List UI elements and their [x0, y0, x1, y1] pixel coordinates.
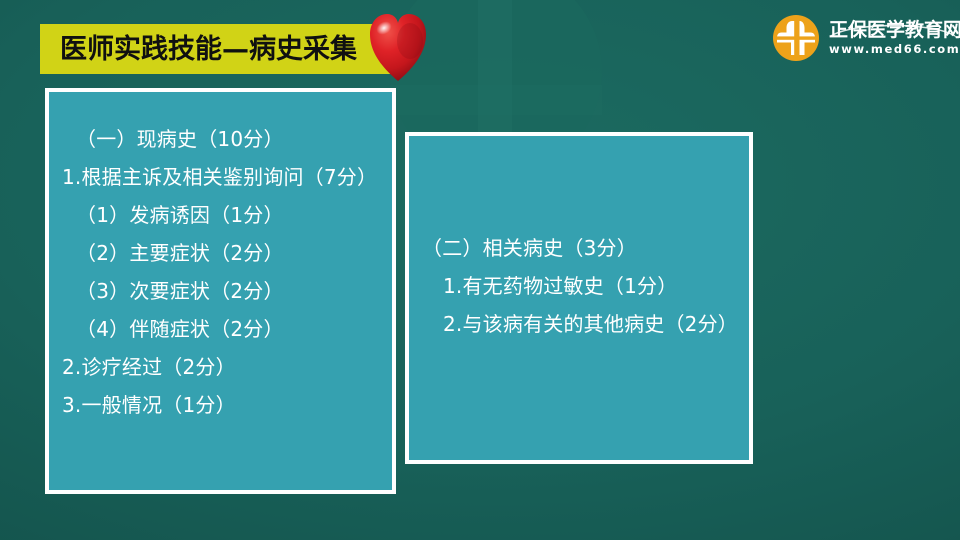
- content-box-right-lines: （二）相关病史（3分） 1.有无药物过敏史（1分） 2.与该病有关的其他病史（2…: [409, 229, 749, 343]
- red-heart-icon: [368, 11, 428, 83]
- site-name: 正保医学教育网: [829, 19, 960, 41]
- med66-cross-circle-logo-icon: [772, 14, 820, 62]
- list-item: （二）相关病史（3分）: [419, 229, 739, 267]
- list-item: 3.一般情况（1分）: [59, 386, 382, 424]
- site-logo-text: 正保医学教育网 www.med66.com: [829, 19, 960, 57]
- site-url: www.med66.com: [829, 42, 960, 57]
- content-box-left: （一）现病史（10分） 1.根据主诉及相关鉴别询问（7分） （1）发病诱因（1分…: [45, 88, 396, 494]
- list-item: （3）次要症状（2分）: [59, 272, 382, 310]
- site-logo: 正保医学教育网 www.med66.com: [772, 12, 952, 64]
- title-banner: 医师实践技能—病史采集: [40, 24, 396, 74]
- content-box-right: （二）相关病史（3分） 1.有无药物过敏史（1分） 2.与该病有关的其他病史（2…: [405, 132, 753, 464]
- page-title: 医师实践技能—病史采集: [40, 36, 357, 63]
- list-item: （2）主要症状（2分）: [59, 234, 382, 272]
- content-box-left-lines: （一）现病史（10分） 1.根据主诉及相关鉴别询问（7分） （1）发病诱因（1分…: [49, 120, 392, 424]
- list-item: （1）发病诱因（1分）: [59, 196, 382, 234]
- list-item: 2.诊疗经过（2分）: [59, 348, 382, 386]
- slide-canvas: 医师实践技能—病史采集 （一）现病史（10分: [0, 0, 960, 540]
- list-item: （4）伴随症状（2分）: [59, 310, 382, 348]
- list-item: 1.有无药物过敏史（1分）: [419, 267, 739, 305]
- watermark-horizontal-bar: [390, 85, 602, 115]
- list-item: 1.根据主诉及相关鉴别询问（7分）: [59, 158, 382, 196]
- list-item: 2.与该病有关的其他病史（2分）: [419, 305, 739, 343]
- list-item: （一）现病史（10分）: [59, 120, 382, 158]
